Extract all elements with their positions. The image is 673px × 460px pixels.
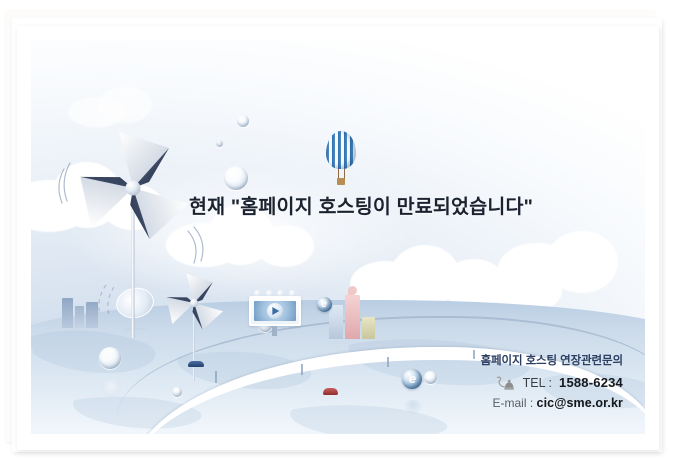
email-address[interactable]: cic@sme.or.kr xyxy=(537,396,623,410)
soap-bubble-reflection xyxy=(101,379,121,397)
artwork-canvas: e e 현재 "홈페이지 호스팅이 만료되었습니다" 홈페이지 호스팅 연장관련… xyxy=(31,40,645,434)
contact-tel-row: TEL : 1588-6234 xyxy=(481,374,623,393)
balloon-basket xyxy=(337,178,345,185)
soap-bubble xyxy=(237,115,249,127)
screenshot-root: e e 현재 "홈페이지 호스팅이 만료되었습니다" 홈페이지 호스팅 연장관련… xyxy=(0,0,673,460)
guardrail-post xyxy=(301,364,303,375)
telephone-icon xyxy=(494,376,516,391)
tel-label: TEL : xyxy=(523,374,552,392)
guardrail-post xyxy=(215,371,217,383)
soap-bubble xyxy=(172,387,182,397)
billboard-panel xyxy=(249,296,301,326)
billboard-group xyxy=(249,290,301,336)
billboard-stand xyxy=(272,326,277,336)
tel-number: 1588-6234 xyxy=(559,374,623,393)
page-headline: 현재 "홈페이지 호스팅이 만료되었습니다" xyxy=(31,190,645,219)
email-label: E-mail : xyxy=(493,396,534,410)
guardrail-post xyxy=(473,350,475,359)
car-red xyxy=(323,388,338,395)
internet-explorer-globe-icon: e xyxy=(317,297,332,312)
soap-bubble xyxy=(99,347,121,369)
guardrail-post xyxy=(387,357,389,367)
paper-layer-front: e e 현재 "홈페이지 호스팅이 만료되었습니다" 홈페이지 호스팅 연장관련… xyxy=(17,26,659,450)
artwork-frame: e e 현재 "홈페이지 호스팅이 만료되었습니다" 홈페이지 호스팅 연장관련… xyxy=(17,26,659,450)
contact-title: 홈페이지 호스팅 연장관련문의 xyxy=(481,353,623,370)
soap-bubble xyxy=(424,371,437,384)
car-blue xyxy=(188,361,204,367)
balloon-envelope xyxy=(326,131,356,169)
contact-email-row: E-mail : cic@sme.or.kr xyxy=(481,394,623,412)
play-button-icon xyxy=(267,303,283,319)
billboard-screen xyxy=(254,301,296,321)
contact-block: 홈페이지 호스팅 연장관련문의 TEL : 1588-6234 xyxy=(481,353,623,412)
motion-arcs xyxy=(56,135,236,305)
